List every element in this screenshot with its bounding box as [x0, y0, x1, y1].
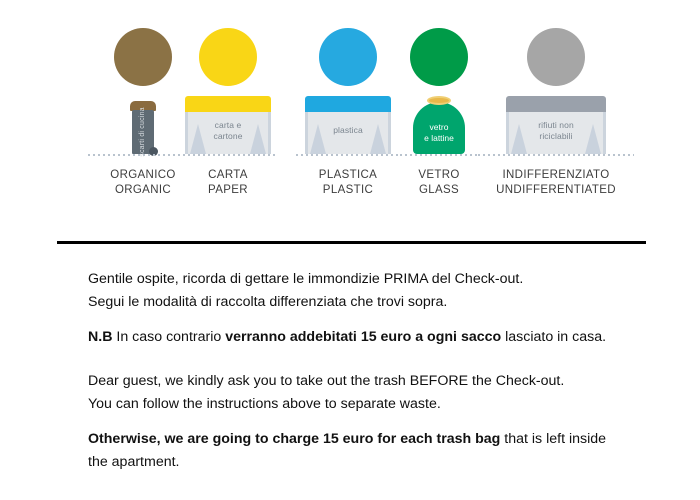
sack-body: vetro e lattine [413, 102, 465, 154]
plastic-sack-icon: plastica [305, 96, 391, 154]
sack-band [185, 96, 271, 112]
sack-label: plastica [308, 110, 388, 136]
caption-english-indifferenziato: UNDIFFERENTIATED [478, 183, 634, 198]
color-dot-indifferenziato [527, 28, 585, 86]
sack-body: rifiuti non riciclabili [506, 110, 606, 154]
waste-column-carta: carta e cartone CARTA PAPER [178, 0, 278, 198]
spacer [88, 416, 628, 428]
container-stage-carta: carta e cartone [178, 92, 278, 156]
bin-body: scarti di cucina [132, 110, 154, 154]
caption-italian-plastica: PLASTICA [296, 168, 400, 183]
italian-nb-paragraph: N.B In caso contrario verranno addebitat… [88, 326, 628, 349]
nb-mid-text: In caso contrario [112, 329, 225, 345]
caption-italian-indifferenziato: INDIFFERENZIATO [478, 168, 634, 183]
ground-line [400, 154, 478, 156]
nb-bold-text: verranno addebitati 15 euro a ogni sacco [225, 329, 501, 345]
sack-band [305, 96, 391, 112]
waste-sorting-graphic: scarti di cucina ORGANICO ORGANIC carta … [0, 0, 700, 222]
italian-line-2: Segui le modalità di raccolta differenzi… [88, 291, 628, 314]
color-dot-carta [199, 28, 257, 86]
undifferentiated-sack-icon: rifiuti non riciclabili [506, 96, 606, 154]
color-dot-organico [114, 28, 172, 86]
section-divider [57, 241, 646, 244]
ground-line [478, 154, 634, 156]
container-stage-plastica: plastica [296, 92, 400, 156]
spacer [88, 314, 628, 326]
caption-english-carta: PAPER [178, 183, 278, 198]
caption-english-plastica: PLASTIC [296, 183, 400, 198]
nb-label: N.B [88, 329, 112, 345]
bin-text: scarti di cucina [139, 107, 147, 157]
sack-label: vetro e lattine [413, 122, 465, 144]
sack-label: rifiuti non riciclabili [509, 110, 603, 142]
ground-line [178, 154, 278, 156]
wheelie-bin-icon: scarti di cucina [130, 101, 156, 154]
glass-sack-icon: vetro e lattine [413, 96, 465, 154]
english-line-2: You can follow the instructions above to… [88, 393, 628, 416]
container-stage-indifferenziato: rifiuti non riciclabili [478, 92, 634, 156]
sack-body: carta e cartone [185, 110, 271, 154]
sack-label: carta e cartone [188, 110, 268, 142]
english-warning-paragraph: Otherwise, we are going to charge 15 eur… [88, 428, 628, 474]
waste-column-indifferenziato: rifiuti non riciclabili INDIFFERENZIATO … [478, 0, 634, 198]
container-stage-vetro: vetro e lattine [400, 92, 478, 156]
english-line-1: Dear guest, we kindly ask you to take ou… [88, 370, 628, 393]
paper-sack-icon: carta e cartone [185, 96, 271, 154]
italian-line-1: Gentile ospite, ricorda di gettare le im… [88, 268, 628, 291]
caption-english-vetro: GLASS [400, 183, 478, 198]
waste-column-plastica: plastica PLASTICA PLASTIC [296, 0, 400, 198]
notice-text-block: Gentile ospite, ricorda di gettare le im… [88, 268, 628, 474]
caption-italian-vetro: VETRO [400, 168, 478, 183]
ground-line [296, 154, 400, 156]
sack-band [506, 96, 606, 112]
sack-body: plastica [305, 110, 391, 154]
color-dot-vetro [410, 28, 468, 86]
spacer [88, 349, 628, 370]
warning-bold-text: Otherwise, we are going to charge 15 eur… [88, 431, 500, 447]
color-dot-plastica [319, 28, 377, 86]
nb-tail-text: lasciato in casa. [501, 329, 606, 345]
caption-italian-carta: CARTA [178, 168, 278, 183]
sack-tie-ring [427, 96, 451, 105]
waste-column-vetro: vetro e lattine VETRO GLASS [400, 0, 478, 198]
